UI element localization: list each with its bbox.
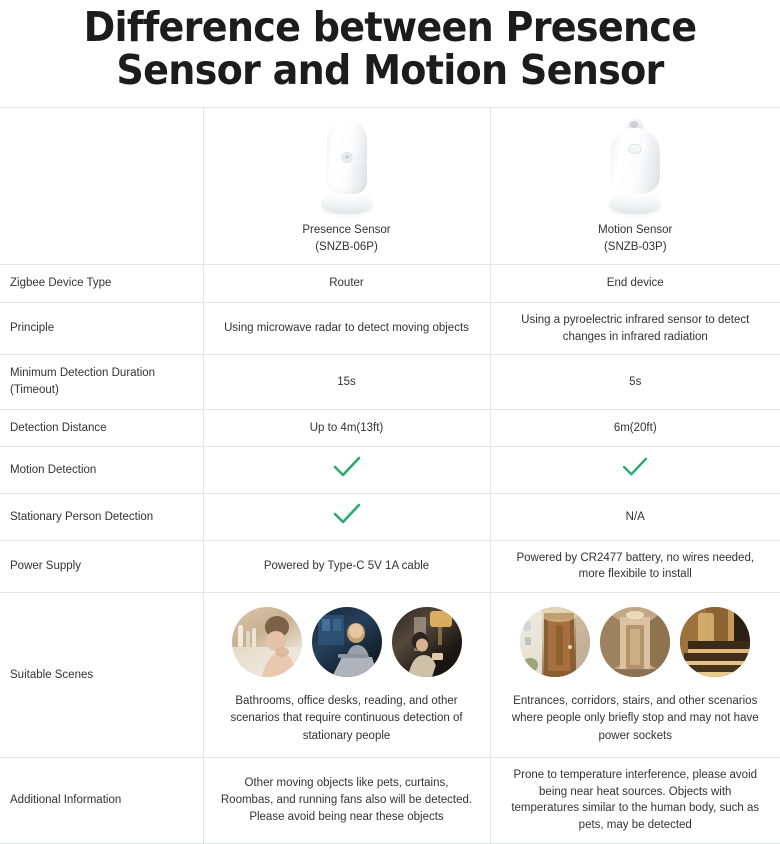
table-row-suitable-scenes: Suitable Scenes	[0, 593, 780, 758]
scenes-cell-presence: Bathrooms, office desks, reading, and ot…	[203, 593, 490, 758]
product-model: (SNZB-03P)	[604, 241, 667, 253]
row-label: Power Supply	[0, 540, 203, 592]
row-value-presence: Router	[203, 265, 490, 303]
table-row-additional-information: Additional Information Other moving obje…	[0, 757, 780, 843]
table-row: Principle Using microwave radar to detec…	[0, 303, 780, 355]
scene-thumbnail-strip	[216, 607, 478, 677]
row-value-motion: N/A	[490, 494, 780, 541]
row-label: Stationary Person Detection	[0, 494, 203, 541]
product-model: (SNZB-06P)	[315, 241, 378, 253]
row-value-presence: Other moving objects like pets, curtains…	[203, 757, 490, 843]
row-label: Motion Detection	[0, 447, 203, 494]
check-icon	[333, 456, 361, 478]
table-row: Motion Detection	[0, 447, 780, 494]
row-value-presence: Using microwave radar to detect moving o…	[203, 303, 490, 355]
row-label: Detection Distance	[0, 409, 203, 447]
product-name-motion: Motion Sensor (SNZB-03P)	[598, 222, 672, 257]
entrance-photo	[520, 607, 590, 677]
product-title: Presence Sensor	[302, 224, 390, 236]
device-base	[321, 194, 373, 214]
comparison-infographic: Difference between Presence Sensor and M…	[0, 0, 780, 844]
scenes-cell-motion: Entrances, corridors, stairs, and other …	[490, 593, 780, 758]
product-cell-motion: Motion Sensor (SNZB-03P)	[490, 107, 780, 265]
corridor-photo	[600, 607, 670, 677]
bathroom-photo	[232, 607, 302, 677]
row-label: Minimum Detection Duration (Timeout)	[0, 355, 203, 409]
row-value-motion: Using a pyroelectric infrared sensor to …	[490, 303, 780, 355]
product-name-presence: Presence Sensor (SNZB-06P)	[302, 222, 390, 257]
reading-photo	[392, 607, 462, 677]
product-title: Motion Sensor	[598, 224, 672, 236]
table-row: Zigbee Device Type Router End device	[0, 265, 780, 303]
table-row: Power Supply Powered by Type-C 5V 1A cab…	[0, 540, 780, 592]
row-value-motion: 5s	[490, 355, 780, 409]
sensor-lens-icon	[341, 152, 352, 163]
scenes-caption-motion: Entrances, corridors, stairs, and other …	[503, 693, 769, 745]
device-base	[609, 194, 661, 214]
row-label: Additional Information	[0, 757, 203, 843]
check-icon	[333, 503, 361, 525]
table-row: Detection Distance Up to 4m(13ft) 6m(20f…	[0, 409, 780, 447]
row-value-motion: 6m(20ft)	[490, 409, 780, 447]
row-value-presence	[203, 494, 490, 541]
row-label: Suitable Scenes	[0, 593, 203, 758]
product-cell-presence: Presence Sensor (SNZB-06P)	[203, 107, 490, 265]
table-row: Minimum Detection Duration (Timeout) 15s…	[0, 355, 780, 409]
row-value-presence	[203, 447, 490, 494]
row-value-motion	[490, 447, 780, 494]
row-value-motion: Prone to temperature interference, pleas…	[490, 757, 780, 843]
row-value-presence: Up to 4m(13ft)	[203, 409, 490, 447]
office-desk-photo	[312, 607, 382, 677]
row-value-presence: Powered by Type-C 5V 1A cable	[203, 540, 490, 592]
row-label: Principle	[0, 303, 203, 355]
table-row: Stationary Person Detection N/A	[0, 494, 780, 541]
row-value-motion: End device	[490, 265, 780, 303]
row-value-presence: 15s	[203, 355, 490, 409]
sensor-lens-icon	[629, 144, 642, 154]
page-title: Difference between Presence Sensor and M…	[27, 0, 752, 107]
comparison-table: Presence Sensor (SNZB-06P)	[0, 107, 780, 844]
stairs-photo	[680, 607, 750, 677]
row-label: Zigbee Device Type	[0, 265, 203, 303]
row-value-motion: Powered by CR2477 battery, no wires need…	[490, 540, 780, 592]
check-icon	[622, 457, 648, 477]
header-label-cell	[0, 107, 203, 265]
table-header-row: Presence Sensor (SNZB-06P)	[0, 107, 780, 265]
scene-thumbnail-strip	[503, 607, 769, 677]
device-body	[610, 128, 660, 194]
scenes-caption-presence: Bathrooms, office desks, reading, and ot…	[216, 693, 478, 745]
presence-sensor-device	[301, 116, 393, 216]
motion-sensor-device	[589, 116, 681, 216]
